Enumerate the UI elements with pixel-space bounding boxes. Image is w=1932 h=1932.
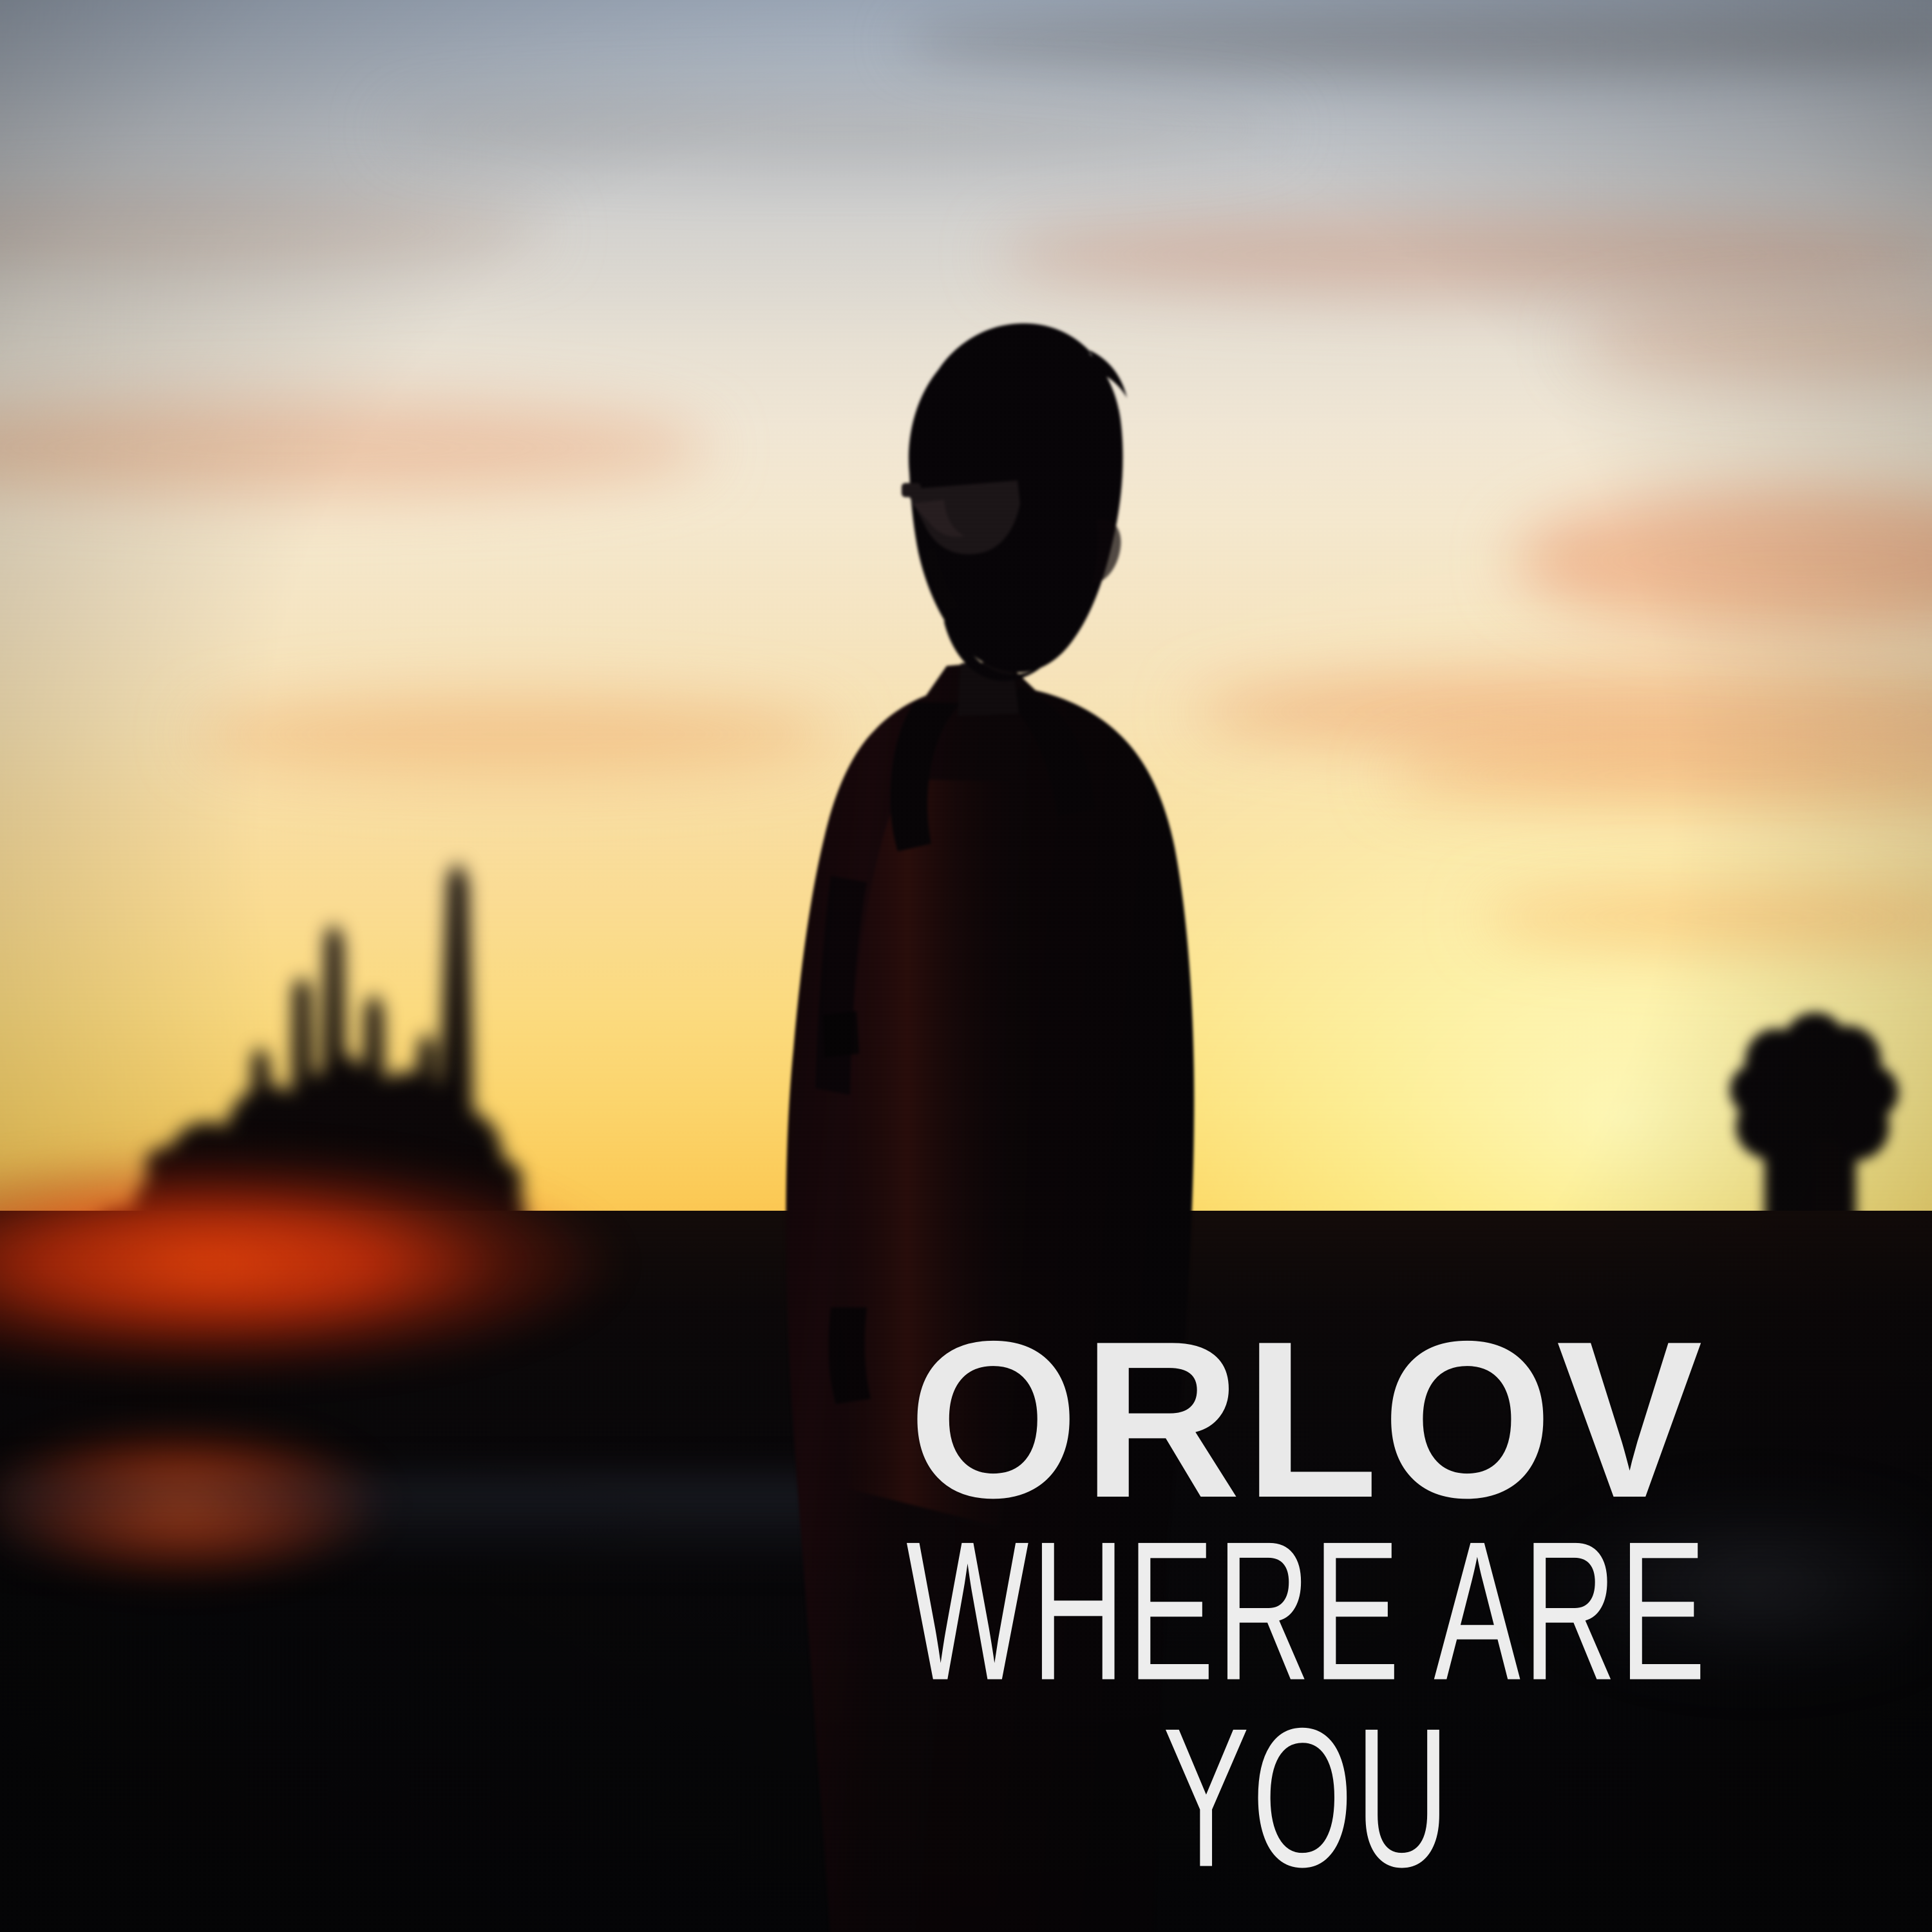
album-cover: ORLOV WHERE ARE YOU (0, 0, 1932, 1932)
track-title-line-2: YOU (869, 1707, 1745, 1889)
artist-name: ORLOV (760, 1333, 1855, 1507)
title-block: ORLOV WHERE ARE YOU (760, 1333, 1855, 1861)
track-title-line-1: WHERE ARE (869, 1520, 1745, 1703)
